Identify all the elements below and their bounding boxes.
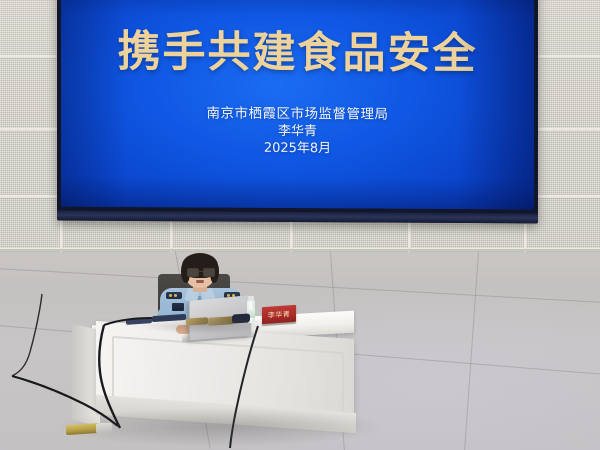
cable-group [0,0,600,450]
desk-power-cable [99,325,120,428]
conference-room-photo: 携手共建食品安全 南京市栖霞区市场监督管理局 李华青 2025年8月 [0,0,600,450]
desk-signal-cable [230,326,258,448]
desk-cable-run [104,318,152,325]
cable-protector-cap [96,422,112,433]
wall-outlet-cable [12,294,42,376]
